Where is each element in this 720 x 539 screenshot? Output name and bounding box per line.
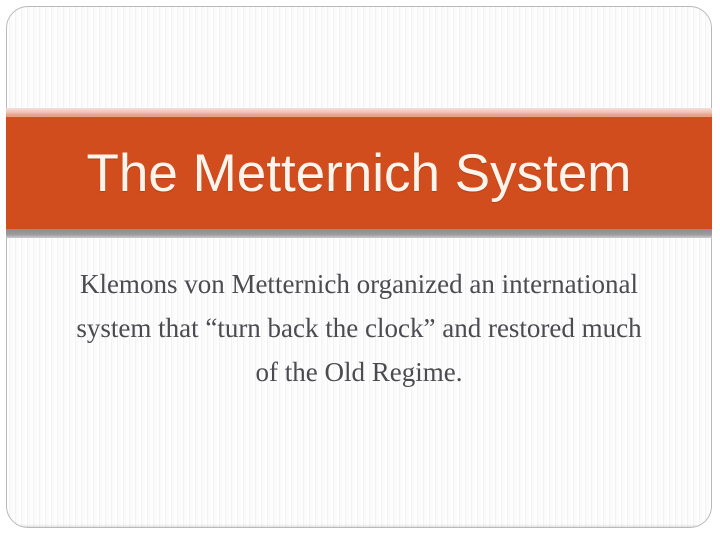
body-line: system that “turn back the clock” and re… [18, 306, 700, 350]
slide-body-text: Klemons von Metternich organized an inte… [18, 262, 700, 394]
body-line: Klemons von Metternich organized an inte… [18, 262, 700, 306]
title-banner: The Metternich System [6, 108, 712, 238]
presentation-slide: The Metternich System Klemons von Metter… [0, 0, 720, 539]
title-banner-bottom-accent-stripe [6, 229, 712, 238]
slide-title: The Metternich System [6, 117, 712, 229]
title-banner-top-accent-stripe [6, 108, 712, 117]
body-line: of the Old Regime. [18, 350, 700, 394]
